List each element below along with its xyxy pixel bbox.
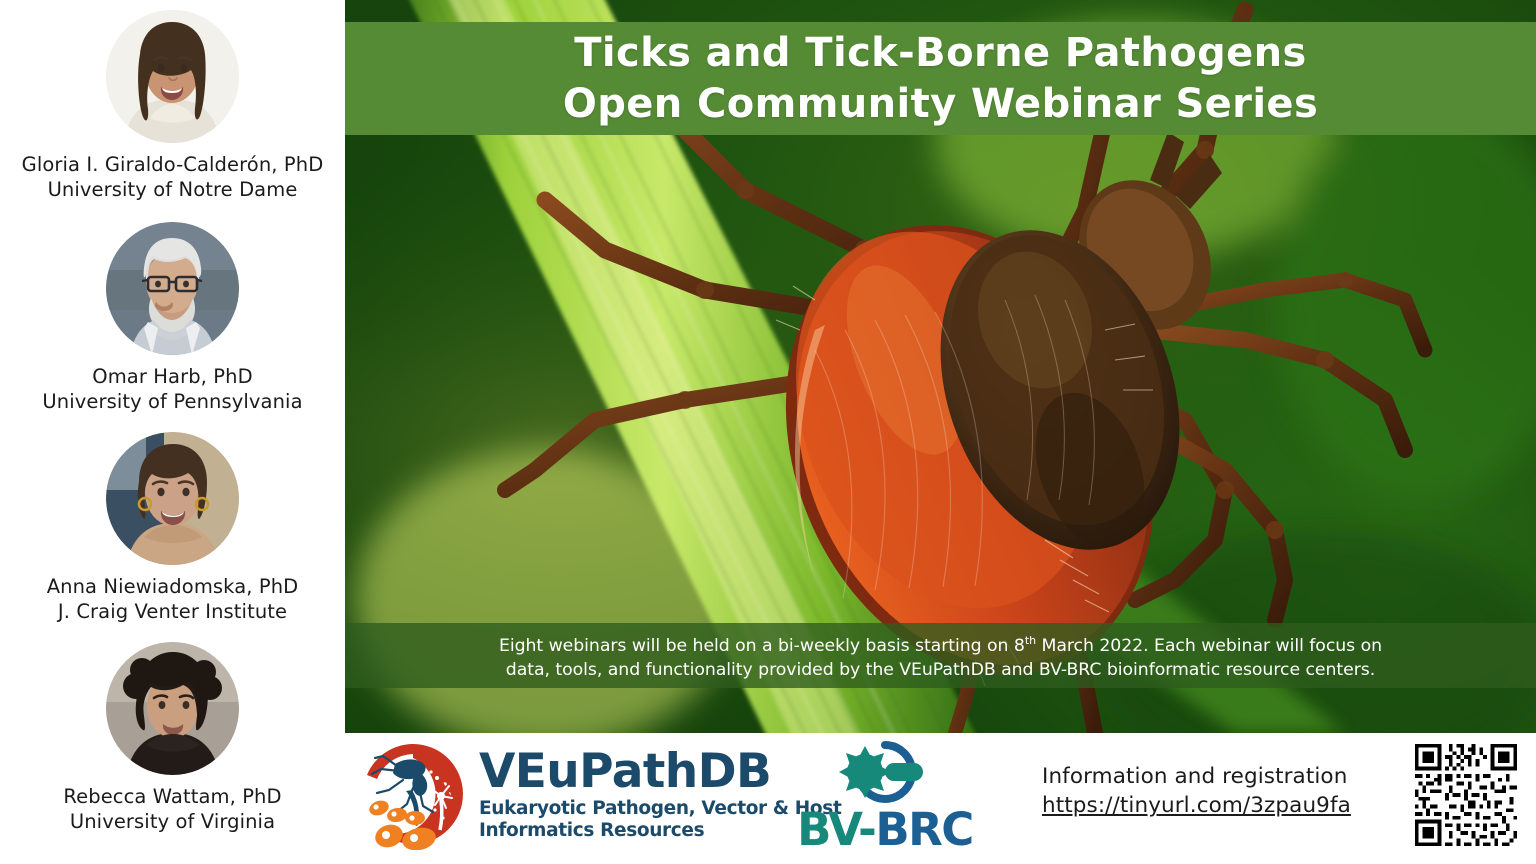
webinar-poster: Gloria I. Giraldo-Calderón, PhD Universi… (0, 0, 1536, 864)
speakers-panel: Gloria I. Giraldo-Calderón, PhD Universi… (0, 0, 345, 864)
speaker-name: Rebecca Wattam, PhD (0, 784, 345, 809)
speaker-card-anna: Anna Niewiadomska, PhD J. Craig Venter I… (0, 432, 345, 624)
speaker-portrait-rebecca-icon (106, 642, 239, 775)
speaker-card-gloria: Gloria I. Giraldo-Calderón, PhD Universi… (0, 10, 345, 202)
main-column: Ticks and Tick-Borne Pathogens Open Comm… (345, 0, 1536, 864)
speaker-portrait-gloria-icon (106, 10, 239, 143)
speaker-card-rebecca: Rebecca Wattam, PhD University of Virgin… (0, 642, 345, 834)
speaker-portrait-anna-icon (106, 432, 239, 565)
speaker-name: Anna Niewiadomska, PhD (0, 574, 345, 599)
veupathdb-mosquito-parasite-roundel-icon (357, 738, 469, 850)
speaker-name: Omar Harb, PhD (0, 364, 345, 389)
bvbrc-virus-bacterium-icon (785, 741, 985, 803)
registration-url-link[interactable]: https://tinyurl.com/3zpau9fa (1042, 791, 1372, 820)
qr-code-icon[interactable] (1411, 740, 1521, 852)
speaker-affiliation: J. Craig Venter Institute (0, 599, 345, 624)
bvbrc-word-blue: BRC (875, 803, 972, 856)
desc-1a: Eight webinars will be held on a bi-week… (499, 636, 1025, 656)
poster-title-band: Ticks and Tick-Borne Pathogens Open Comm… (345, 22, 1536, 135)
speaker-affiliation: University of Pennsylvania (0, 389, 345, 414)
bvbrc-logo[interactable]: BV-BRC (785, 741, 985, 856)
footer-bar: VEuPathDB Eukaryotic Pathogen, Vector & … (345, 733, 1536, 864)
speaker-affiliation: University of Notre Dame (0, 177, 345, 202)
speaker-affiliation: University of Virginia (0, 809, 345, 834)
speaker-card-omar: Omar Harb, PhD University of Pennsylvani… (0, 222, 345, 414)
speaker-portrait-omar-icon (106, 222, 239, 355)
registration-info: Information and registration https://tin… (1042, 762, 1372, 820)
speaker-name: Gloria I. Giraldo-Calderón, PhD (0, 152, 345, 177)
poster-title-line-2: Open Community Webinar Series (563, 79, 1318, 130)
veupathdb-logo[interactable]: VEuPathDB Eukaryotic Pathogen, Vector & … (357, 738, 841, 850)
bvbrc-word-teal: BV- (797, 803, 875, 856)
desc-1b: March 2022. Each webinar will focus on (1036, 636, 1382, 656)
registration-label: Information and registration (1042, 762, 1372, 791)
poster-description-line-2: data, tools, and functionality provided … (506, 658, 1375, 682)
poster-title-line-1: Ticks and Tick-Borne Pathogens (574, 28, 1307, 79)
bvbrc-wordmark: BV-BRC (785, 805, 985, 855)
poster-description-line-1: Eight webinars will be held on a bi-week… (499, 629, 1382, 658)
poster-description-band: Eight webinars will be held on a bi-week… (345, 623, 1536, 688)
desc-1-sup: th (1025, 634, 1036, 647)
